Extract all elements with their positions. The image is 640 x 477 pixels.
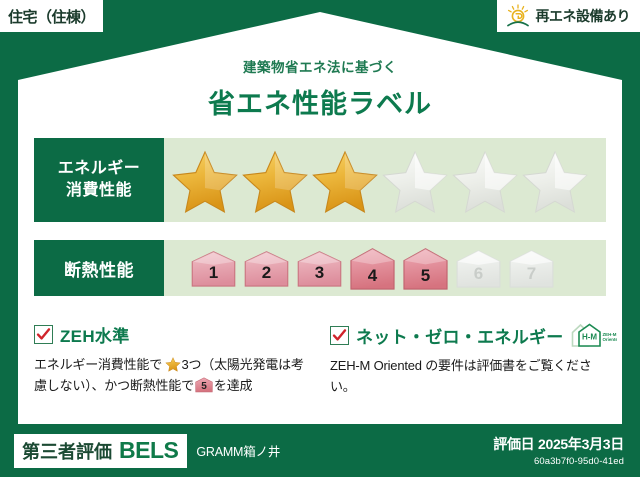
energy-label-line-1: エネルギー bbox=[58, 158, 141, 180]
insulation-level-2: 2 bbox=[241, 249, 292, 287]
insulation-level-inline-badge: 5 bbox=[195, 376, 213, 393]
energy-consumption-row: エネルギー 消費性能 bbox=[34, 138, 606, 222]
energy-star-rating bbox=[164, 138, 606, 222]
insulation-level-4: 4 bbox=[347, 246, 398, 290]
insulation-level-7-number: 7 bbox=[506, 265, 557, 282]
energy-performance-label: 住宅（住棟） 再エネ設備あり 建築物省エネ法に基づく 省エネ性能ラベル bbox=[0, 0, 640, 477]
zeh-m-logo-sub-text-2: Oriented bbox=[602, 337, 617, 342]
evaluation-date: 評価日 2025年3月3日 bbox=[493, 434, 624, 454]
net-zero-energy-title: ネット・ゼロ・エネルギー bbox=[356, 323, 564, 348]
star-icon-empty-6 bbox=[520, 146, 590, 214]
insulation-level-1: 1 bbox=[188, 249, 239, 287]
footer-bar: 第三者評価 BELS GRAMM箱ノ井 評価日 2025年3月3日 60a3b7… bbox=[0, 424, 640, 477]
insulation-level-5-number: 5 bbox=[400, 267, 451, 284]
insulation-level-3: 3 bbox=[294, 249, 345, 287]
insulation-performance-row: 断熱性能 1 2 bbox=[34, 240, 606, 296]
insulation-level-inline-number: 5 bbox=[195, 382, 213, 392]
insulation-label-text: 断熱性能 bbox=[64, 256, 134, 281]
zeh-standard-title: ZEH水準 bbox=[60, 322, 130, 347]
net-zero-energy-heading: ネット・ゼロ・エネルギー H-M ZEH-M Oriented bbox=[330, 322, 608, 348]
zeh-body-part-3: を達成 bbox=[214, 378, 252, 393]
building-type-badge: 住宅（住棟） bbox=[0, 0, 103, 32]
evaluation-info: 評価日 2025年3月3日 60a3b7f0-95d0-41ed bbox=[493, 434, 624, 467]
energy-label-line-2: 消費性能 bbox=[66, 180, 132, 202]
insulation-level-3-number: 3 bbox=[294, 264, 345, 281]
star-icon-filled-1 bbox=[170, 146, 240, 214]
bels-certification-badge: 第三者評価 BELS bbox=[14, 434, 187, 468]
insulation-performance-label: 断熱性能 bbox=[34, 240, 164, 296]
insulation-level-1-number: 1 bbox=[188, 264, 239, 281]
bels-japanese-label: 第三者評価 bbox=[22, 438, 112, 464]
renewable-energy-badge: 再エネ設備あり bbox=[497, 0, 640, 32]
zeh-standard-heading: ZEH水準 bbox=[34, 322, 316, 347]
zeh-m-logo-main-text: H-M bbox=[582, 333, 597, 342]
star-icon-inline bbox=[165, 356, 181, 372]
insulation-level-5: 5 bbox=[400, 246, 451, 290]
evaluation-id: 60a3b7f0-95d0-41ed bbox=[493, 456, 624, 467]
title-block: 建築物省エネ法に基づく 省エネ性能ラベル bbox=[0, 56, 640, 121]
building-type-label: 住宅（住棟） bbox=[8, 6, 95, 27]
bels-logo-text: BELS bbox=[119, 437, 178, 464]
net-zero-energy-note: ネット・ゼロ・エネルギー H-M ZEH-M Oriented ZEH-M Or… bbox=[330, 322, 608, 397]
star-icon-filled-3 bbox=[310, 146, 380, 214]
sun-renewable-icon bbox=[505, 4, 531, 28]
checkbox-checked-icon bbox=[34, 325, 53, 344]
star-icon-empty-5 bbox=[450, 146, 520, 214]
checkbox-checked-icon bbox=[330, 326, 349, 345]
insulation-level-2-number: 2 bbox=[241, 264, 292, 281]
net-zero-energy-body: ZEH-M Oriented の要件は評価書をご覧ください。 bbox=[330, 355, 608, 397]
zeh-standard-note: ZEH水準 エネルギー消費性能で 3つ（太陽光発電は考慮しない）、かつ断熱性能で… bbox=[34, 322, 316, 396]
star-icon-empty-4 bbox=[380, 146, 450, 214]
renewable-energy-label: 再エネ設備あり bbox=[536, 6, 631, 26]
zeh-standard-body: エネルギー消費性能で 3つ（太陽光発電は考慮しない）、かつ断熱性能で 5 を達成 bbox=[34, 354, 316, 396]
label-subtitle: 建築物省エネ法に基づく bbox=[0, 56, 640, 76]
label-title: 省エネ性能ラベル bbox=[0, 82, 640, 121]
zeh-body-part-1: エネルギー消費性能で bbox=[34, 357, 162, 372]
energy-consumption-label: エネルギー 消費性能 bbox=[34, 138, 164, 222]
zeh-m-oriented-logo: H-M ZEH-M Oriented bbox=[571, 322, 617, 348]
insulation-level-scale: 1 2 3 bbox=[164, 240, 606, 296]
project-name: GRAMM箱ノ井 bbox=[196, 441, 280, 460]
star-icon-filled-2 bbox=[240, 146, 310, 214]
insulation-level-6: 6 bbox=[453, 248, 504, 288]
insulation-level-4-number: 4 bbox=[347, 267, 398, 284]
insulation-level-7: 7 bbox=[506, 248, 557, 288]
insulation-level-6-number: 6 bbox=[453, 265, 504, 282]
